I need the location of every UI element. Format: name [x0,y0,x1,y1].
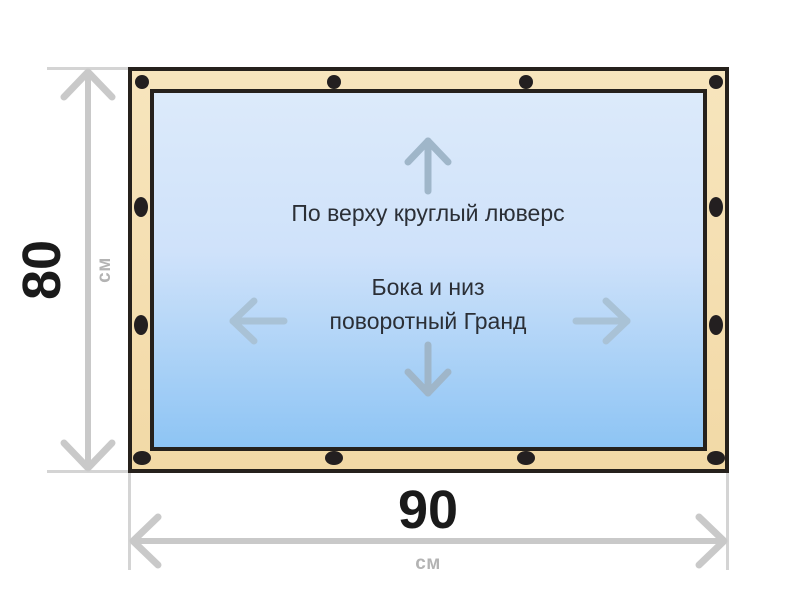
bottom-note-label-line1: Бока и низ [372,274,485,300]
diagram-canvas: 80 см 90 см [0,0,800,600]
bottom-note-label-line2: поворотный Гранд [330,308,528,334]
grommet-oval-icon [134,315,148,335]
curtain-frame [130,69,727,471]
grommet-round-icon [325,451,343,465]
height-dimension-value: 80 [12,240,72,300]
grommet-round-icon [707,451,725,465]
top-note-label: По верху круглый люверс [291,200,564,226]
grommet-round-icon [135,75,149,89]
grommet-round-icon [517,451,535,465]
grommet-oval-icon [709,315,723,335]
grommet-round-icon [709,75,723,89]
width-dimension-value: 90 [398,480,458,540]
height-dimension-unit: см [94,257,115,283]
grommet-round-icon [133,451,151,465]
grommet-oval-icon [134,197,148,217]
grommet-round-icon [519,75,533,89]
grommet-oval-icon [709,197,723,217]
width-dimension-unit: см [415,553,441,574]
grommet-round-icon [327,75,341,89]
